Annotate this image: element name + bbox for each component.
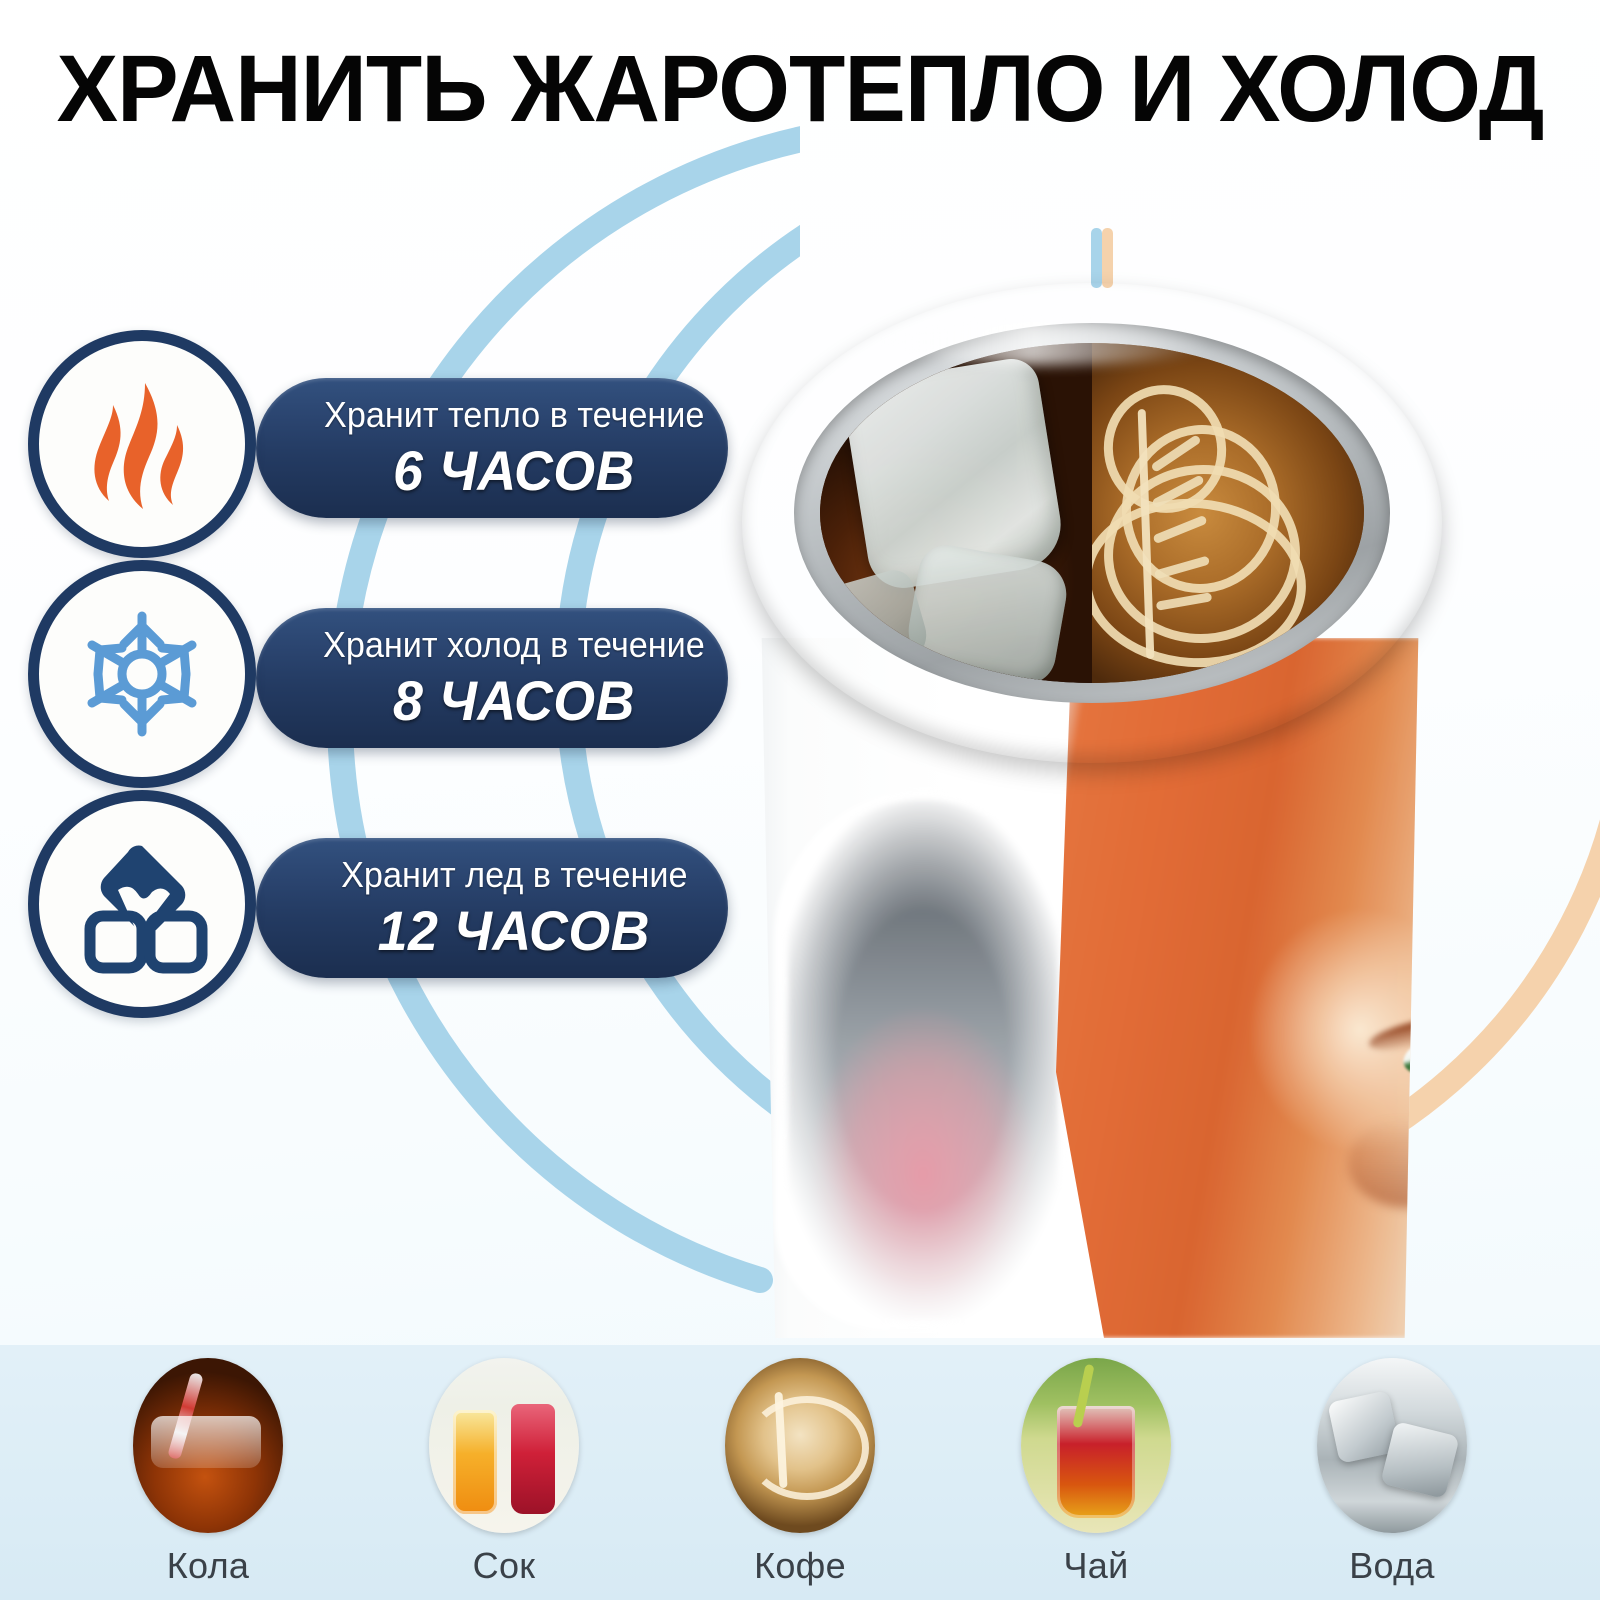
feature-list: Хранит тепло в течение 6 ЧАСОВ Хранит хо… bbox=[28, 330, 728, 1020]
feature-caption: Хранит тепло в течение bbox=[324, 394, 704, 436]
cola-icon bbox=[133, 1358, 283, 1533]
feature-icon-badge bbox=[28, 560, 256, 788]
ice-cubes-icon bbox=[70, 832, 215, 977]
latte-art-rosetta bbox=[1092, 379, 1364, 649]
product-infographic: ХРАНИТЬ ЖАРОТЕПЛО И ХОЛОД bbox=[0, 0, 1600, 1600]
feature-duration: 6 ЧАСОВ bbox=[393, 438, 635, 503]
drink-item-juice: Сок bbox=[404, 1358, 604, 1587]
snowflake-icon bbox=[72, 604, 212, 744]
feature-pill: Хранит тепло в течение 6 ЧАСОВ bbox=[256, 378, 728, 518]
feature-icon-badge bbox=[28, 330, 256, 558]
lid-inner-ring bbox=[794, 323, 1390, 703]
juice-icon bbox=[429, 1358, 579, 1533]
feature-duration: 8 ЧАСОВ bbox=[393, 668, 635, 733]
water-icon bbox=[1317, 1358, 1467, 1533]
drink-label: Сок bbox=[473, 1545, 536, 1587]
feature-item-heat: Хранит тепло в течение 6 ЧАСОВ bbox=[28, 330, 728, 560]
drink-item-tea: Чай bbox=[996, 1358, 1196, 1587]
page-title: ХРАНИТЬ ЖАРОТЕПЛО И ХОЛОД bbox=[24, 40, 1576, 140]
flame-icon bbox=[67, 369, 217, 519]
rabbit-ear-artwork bbox=[788, 800, 1058, 1320]
feature-caption: Хранит лед в течение bbox=[341, 854, 687, 896]
iced-drink-half bbox=[820, 343, 1092, 683]
feature-pill: Хранит холод в течение 8 ЧАСОВ bbox=[256, 608, 728, 748]
feature-item-cold: Хранит холод в течение 8 ЧАСОВ bbox=[28, 560, 728, 790]
drink-label: Кофе bbox=[754, 1545, 846, 1587]
product-tumbler bbox=[742, 283, 1442, 1338]
drink-item-coffee: Кофе bbox=[700, 1358, 900, 1587]
tumbler-lid bbox=[742, 283, 1442, 763]
hot-latte-half bbox=[1092, 343, 1364, 683]
feature-icon-badge bbox=[28, 790, 256, 1018]
tea-icon bbox=[1021, 1358, 1171, 1533]
drink-label: Чай bbox=[1063, 1545, 1128, 1587]
feature-duration: 12 ЧАСОВ bbox=[378, 898, 650, 963]
feature-caption: Хранит холод в течение bbox=[323, 624, 705, 666]
compatible-drinks-band: Кола Сок Кофе Чай Вода bbox=[0, 1345, 1600, 1600]
drink-item-water: Вода bbox=[1292, 1358, 1492, 1587]
lid-highlight bbox=[882, 319, 1212, 365]
feature-item-ice: Хранит лед в течение 12 ЧАСОВ bbox=[28, 790, 728, 1020]
ice-cube bbox=[902, 541, 1071, 683]
drink-item-cola: Кола bbox=[108, 1358, 308, 1587]
feature-pill: Хранит лед в течение 12 ЧАСОВ bbox=[256, 838, 728, 978]
drink-label: Вода bbox=[1349, 1545, 1434, 1587]
coffee-icon bbox=[725, 1358, 875, 1533]
lid-liquid-split-view bbox=[820, 343, 1364, 683]
drink-label: Кола bbox=[167, 1545, 249, 1587]
